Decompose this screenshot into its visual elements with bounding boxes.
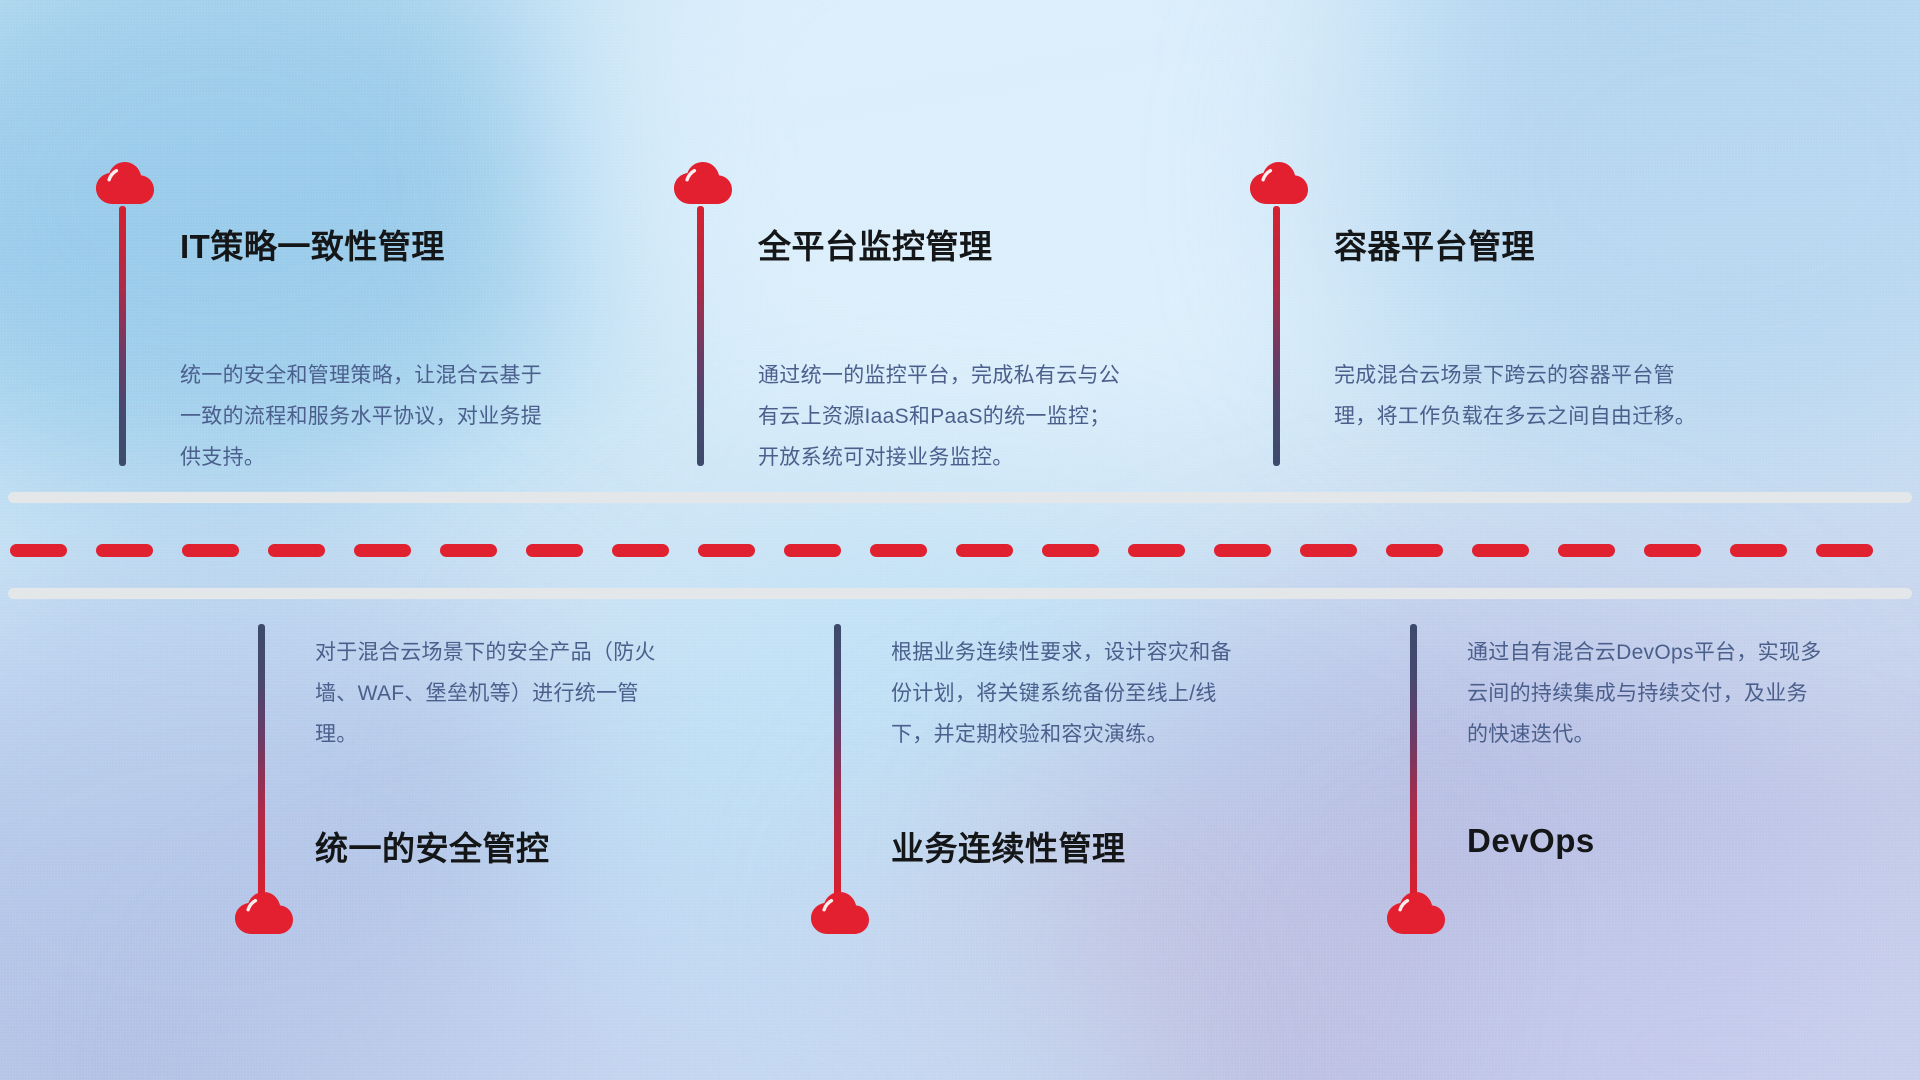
top-item-description: 完成混合云场景下跨云的容器平台管理，将工作负载在多云之间自由迁移。 — [1334, 355, 1706, 437]
divider-dash — [182, 544, 239, 557]
cloud-icon — [233, 890, 295, 940]
connector-line — [1273, 206, 1280, 466]
bottom-item-description: 根据业务连续性要求，设计容灾和备份计划，将关键系统备份至线上/线下，并定期校验和… — [891, 632, 1246, 755]
cloud-icon — [1385, 890, 1447, 940]
divider-dash — [1730, 544, 1787, 557]
divider-dash — [1816, 544, 1873, 557]
divider-dash — [784, 544, 841, 557]
cloud-icon — [94, 160, 156, 210]
divider-dash — [1558, 544, 1615, 557]
divider-bar-top — [8, 492, 1912, 503]
cloud-icon — [672, 160, 734, 210]
connector-line — [119, 206, 126, 466]
top-item-description: 通过统一的监控平台，完成私有云与公有云上资源IaaS和PaaS的统一监控；开放系… — [758, 355, 1130, 478]
connector-line — [697, 206, 704, 466]
cloud-icon — [1248, 160, 1310, 210]
background-blob — [1380, 840, 1920, 1080]
divider-dash — [96, 544, 153, 557]
divider-dash — [10, 544, 67, 557]
infographic-canvas: IT策略一致性管理 统一的安全和管理策略，让混合云基于一致的流程和服务水平协议，… — [0, 0, 1920, 1080]
divider-dash — [1214, 544, 1271, 557]
divider-dash — [354, 544, 411, 557]
divider-dash — [1386, 544, 1443, 557]
divider-dash — [1300, 544, 1357, 557]
bottom-item-title: DevOps — [1467, 822, 1595, 860]
background-blob — [240, 900, 1140, 1080]
divider-dash — [956, 544, 1013, 557]
divider-dash — [1472, 544, 1529, 557]
cloud-icon — [809, 890, 871, 940]
divider-bar-bottom — [8, 588, 1912, 599]
divider-dash — [440, 544, 497, 557]
connector-line — [834, 624, 841, 896]
bottom-item-description: 通过自有混合云DevOps平台，实现多云间的持续集成与持续交付，及业务的快速迭代… — [1467, 632, 1822, 755]
top-item-title: 全平台监控管理 — [758, 220, 993, 268]
bottom-item-title: 统一的安全管控 — [315, 822, 550, 870]
connector-line — [1410, 624, 1417, 896]
divider-dash — [698, 544, 755, 557]
top-item-title: 容器平台管理 — [1334, 220, 1535, 268]
divider-dash — [268, 544, 325, 557]
bottom-item-description: 对于混合云场景下的安全产品（防火墙、WAF、堡垒机等）进行统一管理。 — [315, 632, 670, 755]
divider-dash — [1644, 544, 1701, 557]
bottom-item-title: 业务连续性管理 — [891, 822, 1126, 870]
divider-dash — [870, 544, 927, 557]
divider-dash — [1042, 544, 1099, 557]
connector-line — [258, 624, 265, 896]
top-item-title: IT策略一致性管理 — [180, 220, 445, 268]
divider-dash — [1128, 544, 1185, 557]
top-item-description: 统一的安全和管理策略，让混合云基于一致的流程和服务水平协议，对业务提供支持。 — [180, 355, 552, 478]
section-divider — [0, 488, 1920, 606]
background-blob — [880, 760, 1400, 1080]
divider-dash — [526, 544, 583, 557]
divider-dash — [612, 544, 669, 557]
divider-dashed-line — [0, 544, 1920, 557]
